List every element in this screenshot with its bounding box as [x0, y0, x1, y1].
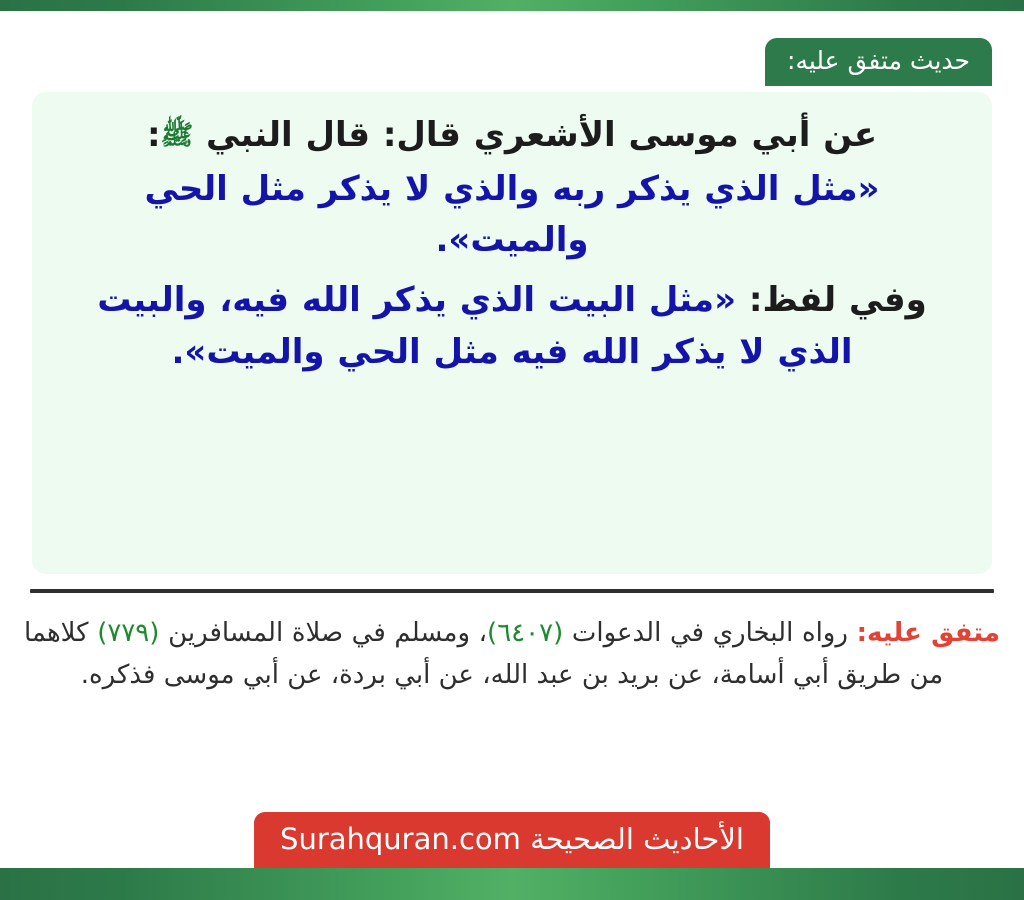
hadith-second-wording-label: وفي لفظ: [749, 280, 927, 320]
bottom-accent-bar [0, 868, 1024, 900]
hadith-quote-one: «مثل الذي يذكر ربه والذي لا يذكر مثل الح… [62, 164, 962, 267]
bukhari-hadith-number: (٦٤٠٧) [487, 618, 563, 648]
hadith-narrator-intro: عن أبي موسى الأشعري قال: قال النبي [206, 115, 877, 155]
hadith-grade-label: متفق عليه: [857, 618, 1000, 648]
site-footer-banner[interactable]: الأحاديث الصحيحة Surahquran.com [254, 812, 770, 868]
footer-collection-label: الأحاديث الصحيحة [530, 822, 744, 856]
muslim-hadith-number: (٧٧٩) [97, 618, 159, 648]
hadith-grade-badge-label: حديث متفق عليه: [787, 46, 970, 75]
footer-site-label: Surahquran.com [280, 822, 521, 856]
source-text-part-2: ، ومسلم في صلاة المسافرين [168, 618, 487, 648]
hadith-card-page: حديث متفق عليه: عن أبي موسى الأشعري قال:… [0, 0, 1024, 900]
hadith-quote-two-text: «مثل البيت الذي يذكر الله فيه، والبيت ال… [97, 280, 852, 372]
hadith-source-reference: متفق عليه: رواه البخاري في الدعوات (٦٤٠٧… [24, 612, 1000, 696]
hadith-narrator-line: عن أبي موسى الأشعري قال: قال النبي ﷺ: [62, 110, 962, 162]
hadith-text-card: عن أبي موسى الأشعري قال: قال النبي ﷺ: «م… [32, 92, 992, 574]
top-accent-bar [0, 0, 1024, 11]
hadith-second-wording-line: وفي لفظ: «مثل البيت الذي يذكر الله فيه، … [62, 275, 962, 378]
sallallahu-alayhi-wasallam-icon: ﷺ [161, 120, 194, 151]
source-text-part-1: رواه البخاري في الدعوات [572, 618, 848, 648]
hadith-intro-colon: : [147, 115, 161, 155]
hadith-grade-badge: حديث متفق عليه: [765, 38, 992, 86]
section-divider [30, 589, 994, 593]
hadith-quote-one-text: «مثل الذي يذكر ربه والذي لا يذكر مثل الح… [144, 169, 879, 261]
